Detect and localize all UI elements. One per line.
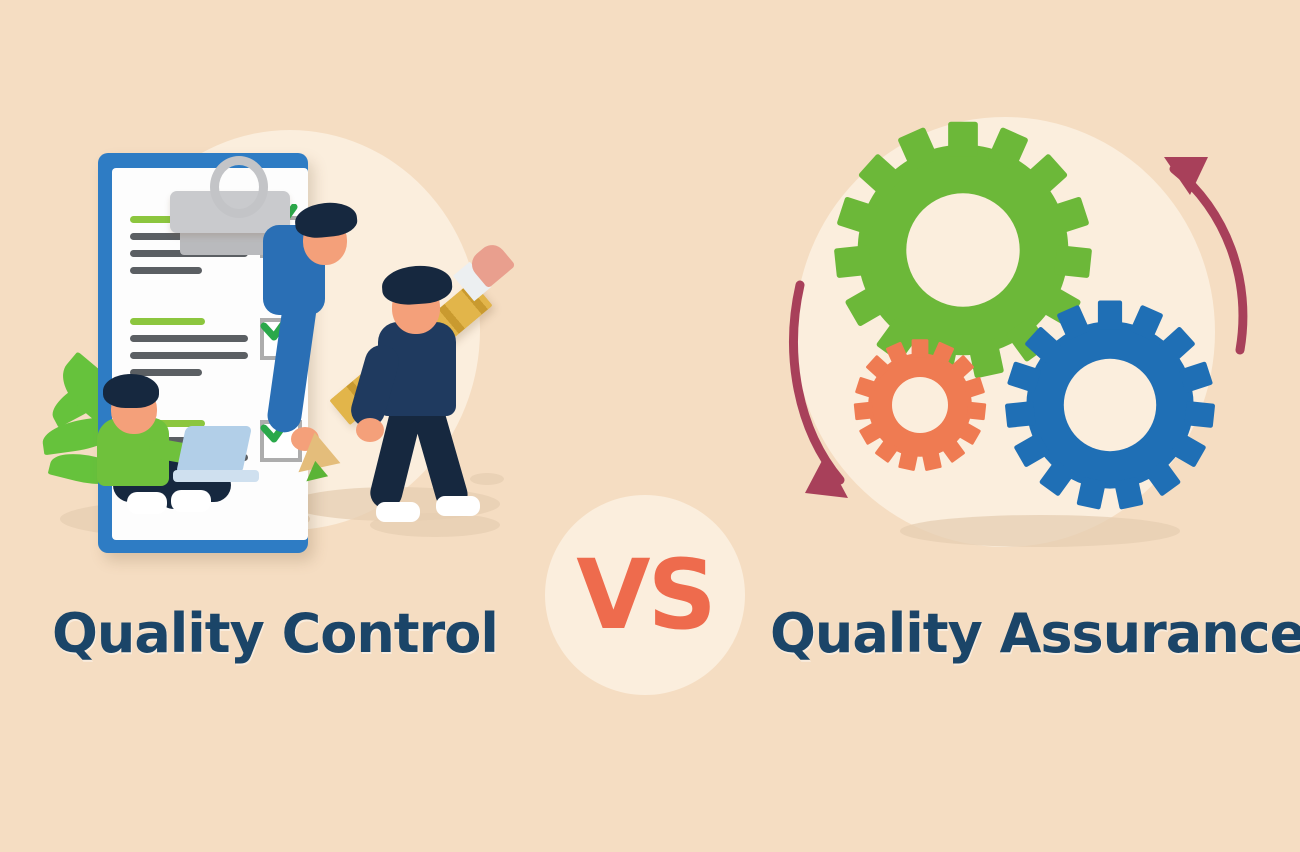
gear-orange bbox=[850, 335, 990, 475]
shoe bbox=[171, 490, 211, 512]
person-seated-with-laptop bbox=[75, 370, 275, 535]
hand bbox=[356, 418, 384, 442]
hair bbox=[293, 200, 358, 240]
laptop bbox=[176, 426, 252, 474]
checklist-line bbox=[130, 352, 248, 359]
quality-control-illustration bbox=[40, 95, 540, 575]
clipboard-clip-ring bbox=[210, 156, 268, 218]
quality-assurance-illustration bbox=[770, 95, 1270, 575]
left-title: Quality Control bbox=[52, 602, 498, 665]
person-walking-navy bbox=[340, 270, 520, 520]
shoe bbox=[436, 496, 480, 516]
checklist-line bbox=[130, 267, 202, 274]
shoe bbox=[376, 502, 420, 522]
right-title: Quality Assurance bbox=[770, 602, 1300, 665]
checklist-line bbox=[130, 318, 205, 325]
illustration-canvas: VS bbox=[0, 0, 1300, 852]
gear-blue bbox=[1000, 295, 1220, 515]
hair bbox=[103, 374, 159, 408]
shoe bbox=[127, 492, 167, 514]
laptop-base bbox=[173, 470, 259, 482]
vs-badge: VS bbox=[545, 495, 745, 695]
checklist-line bbox=[130, 335, 248, 342]
vs-label: VS bbox=[576, 547, 713, 643]
hair bbox=[381, 264, 453, 307]
